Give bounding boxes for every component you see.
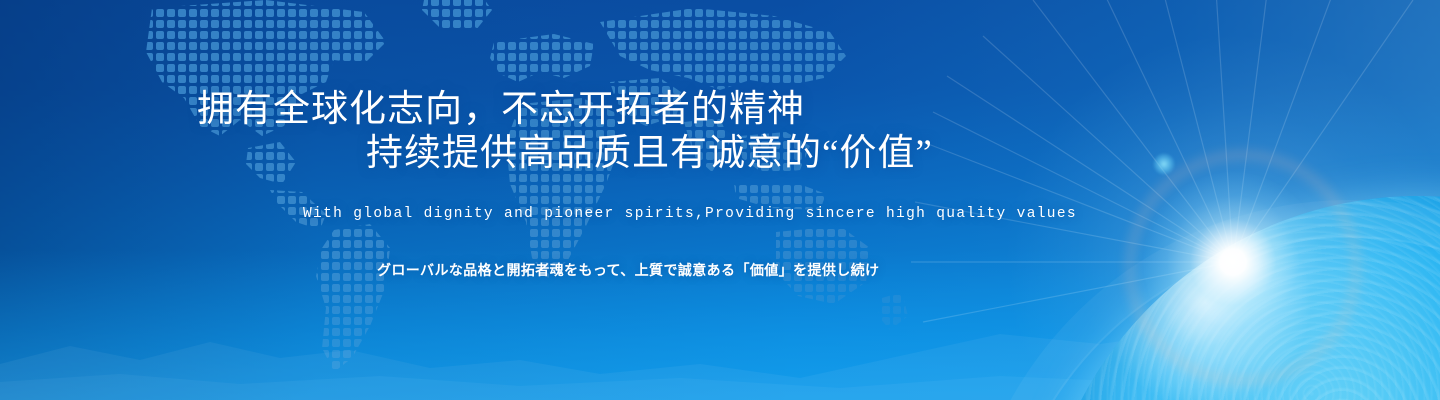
headline-line-2: 持续提供高品质且有诚意的“价值” <box>366 135 933 172</box>
subtitle-japanese: グローバルな品格と開拓者魂をもって、上質で誠意ある「価値」を提供し続け <box>377 260 879 280</box>
headline-line-1: 拥有全球化志向，不忘开拓者的精神 <box>197 91 805 128</box>
hero-banner: 拥有全球化志向，不忘开拓者的精神 持续提供高品质且有诚意的“价值” With g… <box>0 0 1440 400</box>
subtitle-english: With global dignity and pioneer spirits,… <box>303 206 1077 222</box>
banner-copy: 拥有全球化志向，不忘开拓者的精神 持续提供高品质且有诚意的“价值” With g… <box>0 0 1440 400</box>
